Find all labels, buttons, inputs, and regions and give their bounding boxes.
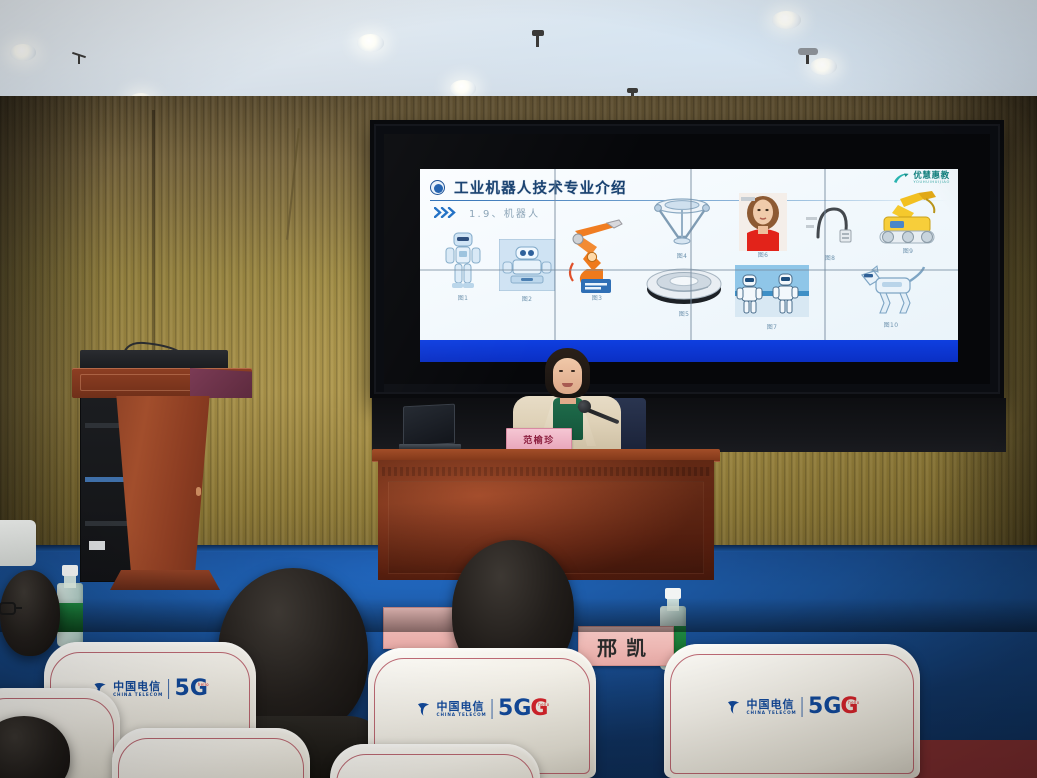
- name-card-text: 邢凯: [597, 632, 655, 661]
- audience-chair-front[interactable]: [330, 744, 540, 778]
- podium-knob: [196, 487, 201, 496]
- logo-divider: [802, 697, 803, 717]
- audience-chair[interactable]: 中国电信 CHINA TELECOM 5G G hello: [664, 644, 920, 778]
- five-g-text: 5G: [808, 696, 841, 718]
- five-g-logo: 5G hello: [175, 678, 208, 700]
- video-wall[interactable]: 工业机器人技术专业介绍 优慧惠教 YOUHUIHUIJIAO: [370, 120, 1004, 398]
- stage-backdrop: [372, 398, 1006, 452]
- china-telecom-5g-logo: 中国电信 CHINA TELECOM 5G G hello: [416, 698, 549, 720]
- podium-side-shelf: [190, 368, 252, 398]
- foreground-white-object: [0, 520, 36, 566]
- hello-text: hello: [538, 702, 549, 707]
- china-telecom-mark-icon: [416, 701, 432, 717]
- brand-cn: 中国电信: [437, 701, 487, 713]
- five-g-text: 5G: [498, 698, 531, 720]
- brand-cn: 中国电信: [747, 699, 797, 711]
- hello-text: hello: [848, 700, 859, 705]
- brand-en: CHINA TELECOM: [747, 711, 797, 715]
- desk-microphone-icon[interactable]: [578, 400, 591, 413]
- laptop-screen[interactable]: [403, 404, 455, 447]
- china-telecom-5g-logo: 中国电信 CHINA TELECOM 5G G hello: [726, 696, 859, 718]
- five-g-logo: 5G G hello: [498, 698, 548, 720]
- sprinkler-head: [798, 48, 820, 65]
- sprinkler-head: [531, 30, 545, 48]
- lecture-hall-photo: 工业机器人技术专业介绍 优慧惠教 YOUHUIHUIJIAO: [0, 0, 1037, 778]
- logo-divider: [168, 679, 169, 699]
- hello-text: hello: [198, 682, 209, 687]
- ceiling-downlight: [450, 80, 476, 97]
- china-telecom-mark-icon: [726, 699, 742, 715]
- brand-en: CHINA TELECOM: [437, 713, 487, 717]
- five-g-logo: 5G G hello: [808, 696, 858, 718]
- presenter-eye: [571, 370, 575, 372]
- eyeglasses-icon: [0, 600, 40, 618]
- brand-en: CHINA TELECOM: [113, 693, 163, 697]
- presenter-name: 范榆珍: [523, 433, 555, 446]
- presenter-eye: [559, 370, 563, 372]
- presenter-face: [553, 358, 582, 394]
- brand-cn: 中国电信: [113, 681, 163, 693]
- podium-base: [110, 570, 220, 590]
- ceiling-downlight: [10, 44, 36, 61]
- audience-name-card: 邢凯: [578, 626, 674, 666]
- audience-chair-front[interactable]: [112, 728, 310, 778]
- ceiling-downlight: [772, 11, 801, 29]
- ceiling-downlight: [357, 34, 384, 52]
- logo-divider: [492, 699, 493, 719]
- presenter-nameplate: 范榆珍: [506, 428, 572, 450]
- screen-glare: [384, 134, 998, 392]
- sprinkler-head: [72, 50, 88, 66]
